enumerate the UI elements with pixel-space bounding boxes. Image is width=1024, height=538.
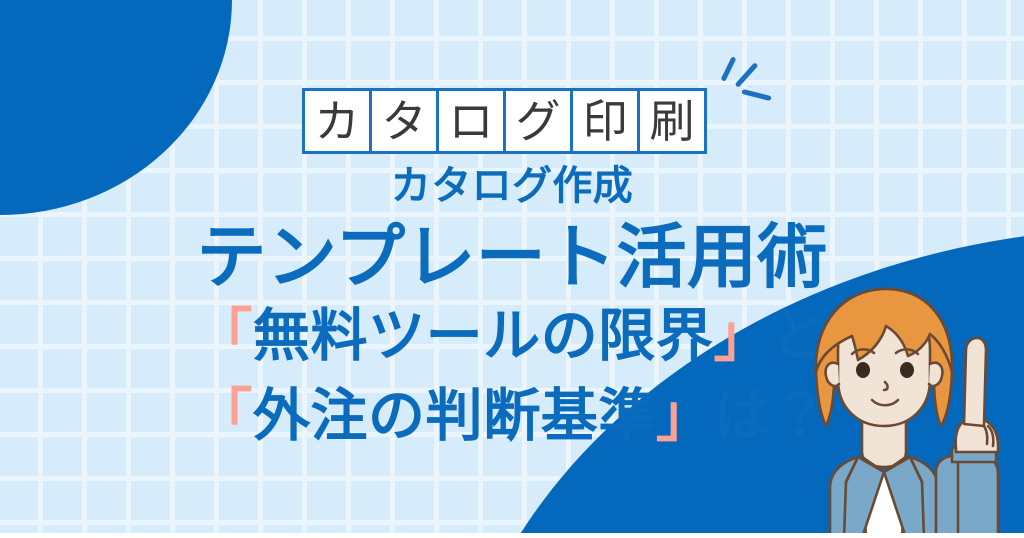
open-bracket: 「: [195, 303, 253, 369]
boxed-title-char: カ: [302, 88, 372, 154]
open-bracket: 「: [195, 383, 253, 449]
subtitle: カタログ作成: [0, 166, 1024, 206]
sparkle-line-2: [735, 62, 759, 88]
boxed-title-char: ロ: [436, 88, 506, 154]
boxed-title: カ タ ロ グ 印 刷: [302, 88, 704, 154]
bottom-edge-strip: [0, 533, 1024, 538]
sparkle-line-3: [741, 89, 771, 101]
close-bracket: 」: [713, 303, 771, 369]
pointing-businesswoman-illustration: [786, 276, 1024, 538]
sparkle-lines-icon: [714, 50, 784, 112]
catalog-printing-banner: カ タ ロ グ 印 刷 カタログ作成 テンプレート活用術 「無料ツールの限界」と…: [0, 0, 1024, 538]
boxed-title-char: 刷: [637, 88, 707, 154]
sparkle-line-1: [721, 56, 737, 82]
quote-text: 無料ツールの限界: [253, 303, 714, 369]
quote-text: 外注の判断基準: [253, 383, 656, 449]
boxed-title-char: タ: [369, 88, 439, 154]
boxed-title-char: 印: [570, 88, 640, 154]
close-bracket: 」: [656, 383, 714, 449]
boxed-title-char: グ: [503, 88, 573, 154]
